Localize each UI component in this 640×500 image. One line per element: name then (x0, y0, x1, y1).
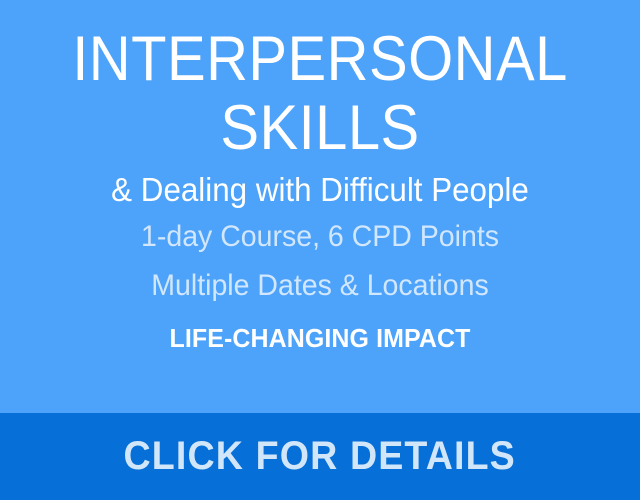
banner-tagline: LIFE-CHANGING IMPACT (13, 324, 627, 353)
banner-content: INTERPERSONAL SKILLS & Dealing with Diff… (0, 0, 640, 413)
banner-subtitle: & Dealing with Difficult People (16, 171, 624, 210)
banner-detail-course-duration: 1-day Course, 6 CPD Points (16, 220, 624, 255)
cta-button[interactable]: CLICK FOR DETAILS (0, 413, 640, 500)
headline-line-2: SKILLS (26, 95, 615, 162)
course-promo-banner[interactable]: INTERPERSONAL SKILLS & Dealing with Diff… (0, 0, 640, 500)
cta-button-label: CLICK FOR DETAILS (124, 436, 516, 478)
headline-line-1: INTERPERSONAL (26, 26, 615, 93)
banner-detail-dates-locations: Multiple Dates & Locations (16, 269, 624, 304)
